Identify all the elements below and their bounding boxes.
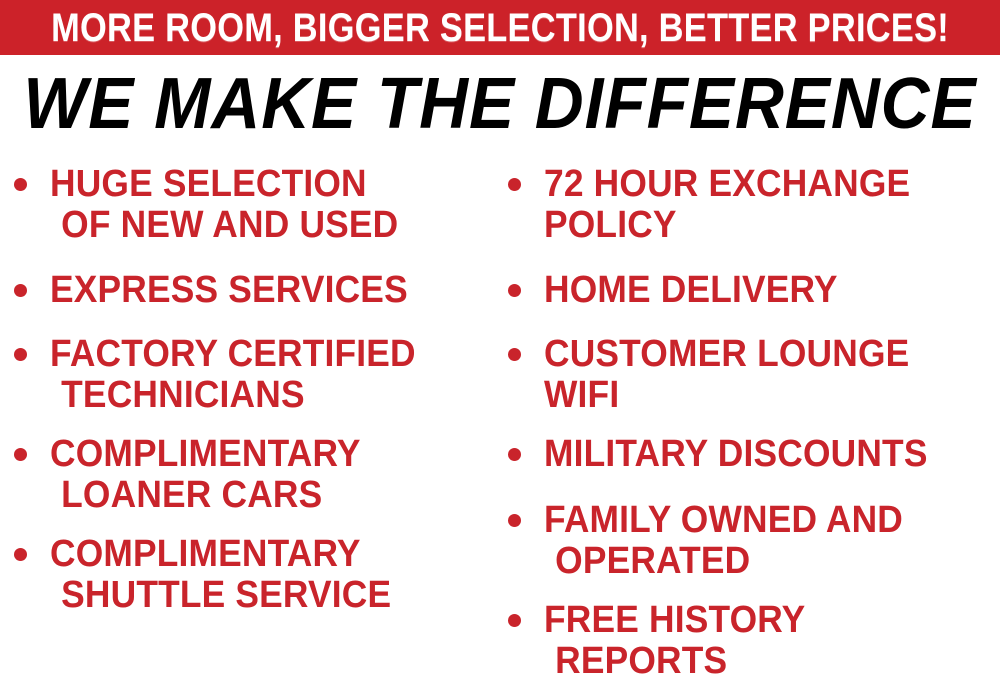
list-item-label: COMPLIMENTARYSHUTTLE SERVICE [50, 534, 391, 616]
list-item-line2: WIFI [544, 375, 909, 416]
list-item-label: FAMILY OWNED ANDOPERATED [544, 500, 903, 582]
page-title: WE MAKE THE DIFFERENCE [23, 68, 976, 140]
list-item-line1: FACTORY CERTIFIED [50, 333, 416, 375]
list-item-label: HUGE SELECTIONOF NEW AND USED [50, 164, 398, 246]
poster-root: MORE ROOM, BIGGER SELECTION, BETTER PRIC… [0, 0, 1000, 694]
list-item-label: 72 HOUR EXCHANGEPOLICY [544, 164, 910, 246]
list-item-line1: FAMILY OWNED AND [544, 499, 903, 541]
list-item: CUSTOMER LOUNGEWIFI [508, 334, 937, 416]
bullet-dot-icon [508, 614, 521, 627]
headline-container: WE MAKE THE DIFFERENCE [0, 66, 1000, 142]
bullet-dot-icon [14, 284, 27, 297]
list-item-label: EXPRESS SERVICES [50, 270, 408, 311]
list-item-line2: OF NEW AND USED [50, 205, 398, 246]
bullet-dot-icon [14, 548, 27, 561]
list-item-line1: MILITARY DISCOUNTS [544, 433, 928, 475]
bullet-dot-icon [508, 178, 521, 191]
list-item-label: HOME DELIVERY [544, 270, 838, 311]
list-item: FAMILY OWNED ANDOPERATED [508, 500, 930, 582]
bullet-dot-icon [14, 448, 27, 461]
benefits-columns: HUGE SELECTIONOF NEW AND USED EXPRESS SE… [0, 152, 1000, 694]
banner-headline-text: MORE ROOM, BIGGER SELECTION, BETTER PRIC… [51, 8, 949, 48]
list-item: HUGE SELECTIONOF NEW AND USED [14, 164, 425, 246]
list-item-line1: COMPLIMENTARY [50, 533, 361, 575]
bullet-dot-icon [508, 348, 521, 361]
list-item-label: CUSTOMER LOUNGEWIFI [544, 334, 909, 416]
bullet-dot-icon [508, 514, 521, 527]
list-item: COMPLIMENTARYLOANER CARS [14, 434, 384, 516]
list-item-line1: 72 HOUR EXCHANGE [544, 163, 910, 205]
bullet-dot-icon [14, 178, 27, 191]
bullet-dot-icon [14, 348, 27, 361]
list-item: EXPRESS SERVICES [14, 270, 435, 311]
list-item: COMPLIMENTARYSHUTTLE SERVICE [14, 534, 417, 616]
list-item-label: COMPLIMENTARYLOANER CARS [50, 434, 361, 516]
list-item-line1: COMPLIMENTARY [50, 433, 361, 475]
list-item: FACTORY CERTIFIEDTECHNICIANS [14, 334, 443, 416]
list-item-line2: LOANER CARS [50, 475, 361, 516]
list-item-line1: CUSTOMER LOUNGE [544, 333, 909, 375]
bullet-dot-icon [508, 448, 521, 461]
list-item-line2: SHUTTLE SERVICE [50, 575, 391, 616]
list-item-line2: POLICY [544, 205, 910, 246]
list-item: HOME DELIVERY [508, 270, 860, 311]
list-item: MILITARY DISCOUNTS [508, 434, 956, 475]
list-item: 72 HOUR EXCHANGEPOLICY [508, 164, 938, 246]
list-item: FREE HISTORYREPORTS [508, 600, 825, 682]
list-item-line2: TECHNICIANS [50, 375, 416, 416]
list-item-line1: FREE HISTORY [544, 599, 805, 641]
list-item-label: FREE HISTORYREPORTS [544, 600, 805, 682]
bullet-dot-icon [508, 284, 521, 297]
list-item-line1: HOME DELIVERY [544, 269, 838, 311]
list-item-line2: OPERATED [544, 541, 903, 582]
list-item-line2: REPORTS [544, 641, 805, 682]
list-item-line1: EXPRESS SERVICES [50, 269, 408, 311]
benefits-column-right: 72 HOUR EXCHANGEPOLICY HOME DELIVERY CUS… [508, 152, 1000, 694]
benefits-column-left: HUGE SELECTIONOF NEW AND USED EXPRESS SE… [14, 152, 506, 694]
list-item-line1: HUGE SELECTION [50, 163, 367, 205]
top-banner: MORE ROOM, BIGGER SELECTION, BETTER PRIC… [0, 0, 1000, 55]
list-item-label: MILITARY DISCOUNTS [544, 434, 928, 475]
list-item-label: FACTORY CERTIFIEDTECHNICIANS [50, 334, 416, 416]
